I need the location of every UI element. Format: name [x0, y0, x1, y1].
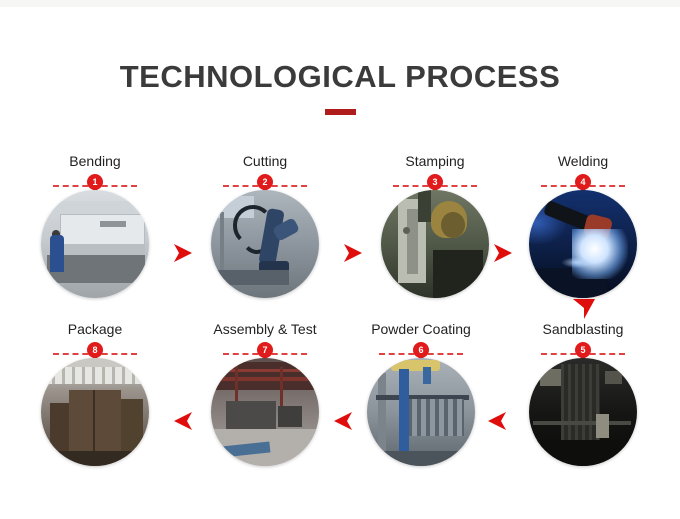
title-block: TECHNOLOGICAL PROCESS — [0, 58, 680, 115]
stamping-press-image — [381, 190, 489, 298]
process-row-1: Bending 1 Cutting — [0, 152, 680, 312]
process-row-2: Package 8 Assembly & Test — [0, 320, 680, 480]
step-photo[interactable] — [529, 358, 637, 466]
top-edge-strip — [0, 0, 680, 7]
step-photo[interactable] — [211, 358, 319, 466]
sandblasting-image — [529, 358, 637, 466]
step-number-badge: 7 — [257, 342, 273, 358]
step-number-badge: 5 — [575, 342, 591, 358]
step-photo[interactable] — [211, 190, 319, 298]
step-label: Package — [20, 320, 170, 338]
powder-coating-image — [367, 358, 475, 466]
step-photo[interactable] — [381, 190, 489, 298]
flow-arrow-left-icon — [484, 408, 510, 434]
step-number-badge: 8 — [87, 342, 103, 358]
process-step-stamping[interactable]: Stamping 3 — [360, 152, 510, 312]
process-step-welding[interactable]: Welding 4 — [508, 152, 658, 312]
process-step-powder-coating[interactable]: Powder Coating 6 — [346, 320, 496, 480]
step-number-badge: 3 — [427, 174, 443, 190]
step-photo[interactable] — [529, 190, 637, 298]
bending-machine-image — [41, 190, 149, 298]
process-step-sandblasting[interactable]: Sandblasting 5 — [508, 320, 658, 480]
step-label: Stamping — [360, 152, 510, 170]
process-step-bending[interactable]: Bending 1 — [20, 152, 170, 312]
step-label: Welding — [508, 152, 658, 170]
process-step-package[interactable]: Package 8 — [20, 320, 170, 480]
step-label: Powder Coating — [346, 320, 496, 338]
step-photo[interactable] — [367, 358, 475, 466]
assembly-workshop-image — [211, 358, 319, 466]
step-label: Sandblasting — [508, 320, 658, 338]
flow-arrow-down-icon — [570, 296, 598, 322]
welding-arc-image — [529, 190, 637, 298]
technological-process-infographic: TECHNOLOGICAL PROCESS Bending 1 — [0, 0, 680, 519]
package-crates-image — [41, 358, 149, 466]
step-number-badge: 6 — [413, 342, 429, 358]
step-photo[interactable] — [41, 190, 149, 298]
step-number-badge: 1 — [87, 174, 103, 190]
process-step-cutting[interactable]: Cutting 2 — [190, 152, 340, 312]
page-title: TECHNOLOGICAL PROCESS — [0, 58, 680, 96]
cutting-machine-image — [211, 190, 319, 298]
process-step-assembly-and-test[interactable]: Assembly & Test 7 — [190, 320, 340, 480]
step-label: Bending — [20, 152, 170, 170]
title-underline-rule — [325, 109, 356, 115]
step-photo[interactable] — [41, 358, 149, 466]
step-label: Cutting — [190, 152, 340, 170]
step-number-badge: 2 — [257, 174, 273, 190]
step-label: Assembly & Test — [190, 320, 340, 338]
step-number-badge: 4 — [575, 174, 591, 190]
